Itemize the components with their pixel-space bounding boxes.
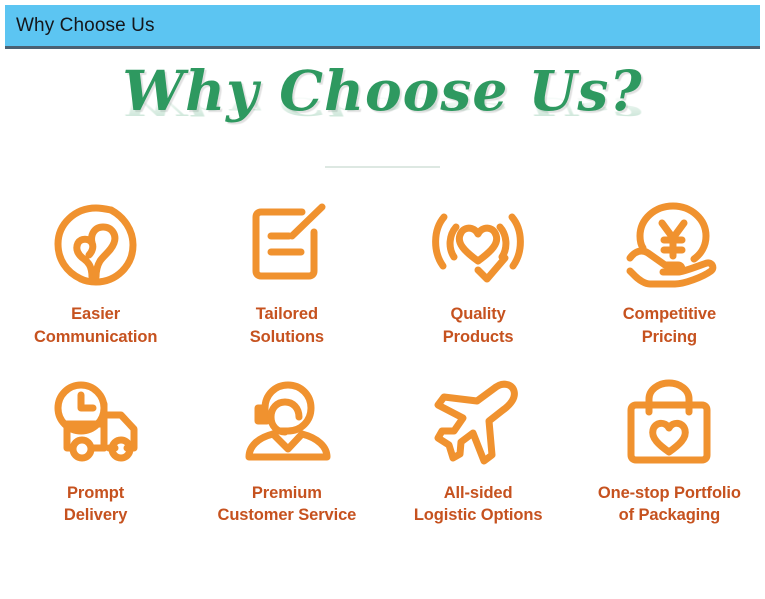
feature-label-line2: of Packaging — [619, 506, 721, 524]
feature-label-line2: Customer Service — [218, 506, 357, 524]
truck-clock-icon — [44, 375, 148, 471]
heart-signal-check-icon — [426, 196, 530, 292]
headset-agent-icon — [235, 375, 339, 471]
feature-label: Quality Products — [443, 303, 514, 349]
feature-item-premium-customer-service[interactable]: Premium Customer Service — [191, 375, 382, 528]
feature-label-line1: Quality — [451, 305, 506, 323]
feature-item-competitive-pricing[interactable]: Competitive Pricing — [574, 196, 765, 349]
window-titlebar-wrap: Why Choose Us — [0, 0, 765, 49]
feature-label: Tailored Solutions — [250, 303, 324, 349]
airplane-icon — [426, 375, 530, 471]
feature-item-tailored-solutions[interactable]: Tailored Solutions — [191, 196, 382, 349]
feature-item-prompt-delivery[interactable]: Prompt Delivery — [0, 375, 191, 528]
document-pencil-icon — [235, 196, 339, 292]
feature-label-line1: Prompt — [67, 484, 124, 502]
feature-label-line2: Products — [443, 328, 514, 346]
feature-label-line2: Communication — [34, 328, 157, 346]
feature-label-line1: Easier — [71, 305, 120, 323]
feature-label: One-stop Portfolio of Packaging — [598, 482, 741, 528]
feature-label: All-sided Logistic Options — [414, 482, 543, 528]
page-title-reflection: Why Choose Us? — [0, 94, 765, 119]
feature-label-line1: Premium — [252, 484, 322, 502]
feature-grid: Easier Communication Tailored Solutions — [0, 196, 765, 527]
hero-banner: Why Choose Us? Why Choose Us? — [0, 63, 765, 155]
hand-yen-coin-icon — [617, 196, 721, 292]
shopping-bag-heart-icon — [617, 375, 721, 471]
feature-label: Prompt Delivery — [64, 482, 127, 528]
feature-label: Competitive Pricing — [623, 303, 716, 349]
feature-label-line2: Delivery — [64, 506, 127, 524]
feature-label-line1: Tailored — [256, 305, 318, 323]
feature-label-line2: Solutions — [250, 328, 324, 346]
feature-label: Easier Communication — [34, 303, 157, 349]
feature-item-quality-products[interactable]: Quality Products — [383, 196, 574, 349]
feature-label: Premium Customer Service — [218, 482, 357, 528]
feature-item-all-sided-logistic-options[interactable]: All-sided Logistic Options — [383, 375, 574, 528]
title-divider — [325, 166, 440, 168]
feature-label-line2: Logistic Options — [414, 506, 543, 524]
feature-item-one-stop-portfolio-of-packaging[interactable]: One-stop Portfolio of Packaging — [574, 375, 765, 528]
window-titlebar: Why Choose Us — [5, 5, 760, 49]
feature-label-line1: One-stop Portfolio — [598, 484, 741, 502]
window-title: Why Choose Us — [5, 16, 155, 35]
feature-label-line2: Pricing — [642, 328, 697, 346]
ear-listening-icon — [44, 196, 148, 292]
feature-label-line1: All-sided — [444, 484, 513, 502]
feature-label-line1: Competitive — [623, 305, 716, 323]
feature-item-easier-communication[interactable]: Easier Communication — [0, 196, 191, 349]
